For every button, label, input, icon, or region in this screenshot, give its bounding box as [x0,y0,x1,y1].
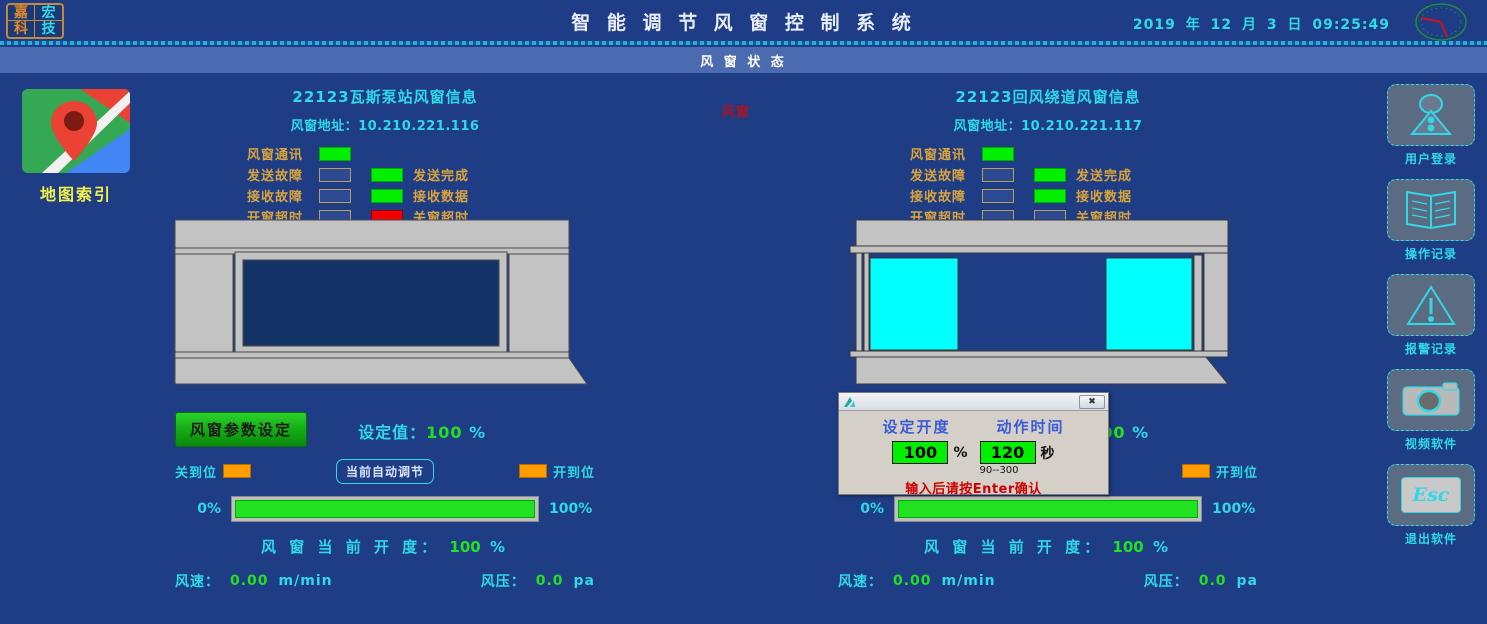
status-lamp-comm [982,147,1014,161]
dialog-hint: 输入后请按Enter确认 [839,478,1108,497]
action-time-heading: 动作时间 [997,416,1065,437]
bar-max-label: 100% [539,501,595,517]
dialog-titlebar[interactable]: ✖ [839,393,1108,411]
setpoint-label: 设定值： [358,423,426,442]
current-opening-unit: % [1153,538,1172,556]
opening-heading: 设定开度 [882,416,950,437]
book-icon [1402,188,1460,232]
esc-key-label: Esc [1413,484,1450,506]
auto-mode-badge[interactable]: 当前自动调节 [336,459,434,484]
param-row-left: 风窗参数设定 设定值：100 % [175,412,595,447]
opening-progress-fill [235,500,535,518]
wind-speed-value: 0.00 [230,573,269,589]
parameter-dialog[interactable]: ✖ 设定开度 动作时间 100 % 120 秒 90--300 输入后请按Ent… [838,392,1109,495]
current-opening-label: 风 窗 当 前 开 度： [261,538,440,556]
status-label: 接收故障 [910,186,978,205]
position-row-left: 关到位 当前自动调节 开到位 [175,461,595,481]
wind-speed-label: 风速： [175,571,220,591]
address-label: 风窗地址： [954,119,1022,134]
panel-left: 22123瓦斯泵站风窗信息 风窗地址：10.210.221.116 风窗通讯 发… [175,86,595,227]
wind-pressure-value: 0.0 [536,573,564,589]
measurements-right: 风速： 0.00 m/min 风压： 0.0 pa [838,571,1258,591]
wind-speed-value: 0.00 [893,573,932,589]
year-unit: 年 [1186,17,1201,33]
opening-input[interactable]: 100 [892,441,948,464]
operation-log-button[interactable] [1387,179,1475,241]
closed-position-lamp [223,464,251,478]
measurements-left: 风速： 0.00 m/min 风压： 0.0 pa [175,571,595,591]
progress-row-left: 0% 100% [175,496,595,522]
current-opening-value: 100 [1112,538,1143,556]
wind-window-graphic-left [173,218,591,388]
alarm-log-button[interactable] [1387,274,1475,336]
dialog-fields: 100 % 120 秒 90--300 [839,441,1108,476]
setpoint-display: 设定值：100 % [358,419,486,443]
opening-field-group: 100 % [892,441,967,464]
closed-position-label: 关到位 [175,462,217,481]
bar-max-label: 100% [1202,501,1258,517]
sidebar-item-exit-software[interactable]: Esc 退出软件 [1385,464,1477,547]
action-time-field-group: 120 秒 [980,441,1055,464]
sidebar-label-operation-log: 操作记录 [1385,245,1477,262]
action-time-input[interactable]: 120 [980,441,1036,464]
panel-right: 22123回风绕道风窗信息 风窗地址：10.210.221.117 风窗通讯 发… [838,86,1258,227]
day-value: 3 [1267,17,1278,33]
status-row: 风窗通讯 [910,143,1258,164]
status-row: 发送故障 发送完成 [247,164,595,185]
sidebar-item-video-software[interactable]: 视频软件 [1385,369,1477,452]
setpoint-unit: % [1132,423,1149,442]
wind-pressure-unit: pa [574,573,595,589]
panel-right-address: 风窗地址：10.210.221.117 [838,115,1258,134]
setpoint-value: 100 [426,423,462,442]
open-position-label: 开到位 [1216,462,1258,481]
esc-key-icon: Esc [1401,477,1461,513]
dialog-headings: 设定开度 动作时间 [839,416,1108,437]
open-position-lamp [519,464,547,478]
current-opening-unit: % [490,538,509,556]
opening-unit: % [953,445,967,461]
open-position-label: 开到位 [553,462,595,481]
clock-gauge-icon [1405,2,1477,42]
status-lamp-send-fault [319,168,351,182]
user-login-button[interactable] [1387,84,1475,146]
status-lamp-send-done [1034,168,1066,182]
status-label-secondary: 接收数据 [1076,186,1132,205]
status-lamp-recv-fault [319,189,351,203]
bar-min-label: 0% [838,501,894,517]
map-index-label: 地图索引 [22,181,130,205]
status-label: 风窗通讯 [247,144,315,163]
map-index-button[interactable]: 地图索引 [22,89,130,205]
sidebar-label-video-software: 视频软件 [1385,435,1477,452]
sidebar-label-user-login: 用户登录 [1385,150,1477,167]
current-opening-left: 风 窗 当 前 开 度： 100 % [175,536,595,557]
status-strip-label: 风 窗 状 态 [700,51,787,70]
status-row: 接收故障 接收数据 [247,185,595,206]
wind-speed-unit: m/min [279,573,333,589]
wind-pressure-value: 0.0 [1199,573,1227,589]
opening-progress-bar[interactable] [231,496,539,522]
status-lamp-send-done [371,168,403,182]
panel-left-status-rows: 风窗通讯 发送故障 发送完成 接收故障 接收数据 开窗超时 关窗超时 [175,143,595,227]
progress-row-right: 0% 100% [838,496,1258,522]
param-setting-button[interactable]: 风窗参数设定 [175,412,307,447]
address-label: 风窗地址： [291,119,359,134]
opening-progress-bar[interactable] [894,496,1202,522]
warning-triangle-icon [1404,283,1458,327]
setpoint-unit: % [469,423,486,442]
top-bar: 嘉 宏 科 技 智 能 调 节 风 窗 控 制 系 统 2019 年 12 月 … [0,0,1487,45]
address-value: 10.210.221.116 [358,119,479,134]
action-time-unit: 秒 [1041,443,1055,463]
status-lamp-recv-data [1034,189,1066,203]
bar-min-label: 0% [175,501,231,517]
status-label: 发送故障 [247,165,315,184]
camera-icon [1400,379,1462,421]
datetime-display: 2019 年 12 月 3 日 09:25:49 [1131,14,1392,34]
status-label: 发送故障 [910,165,978,184]
exit-software-button[interactable]: Esc [1387,464,1475,526]
sidebar-label-alarm-log: 报警记录 [1385,340,1477,357]
wind-speed-unit: m/min [942,573,996,589]
panel-right-title: 22123回风绕道风窗信息 [838,86,1258,107]
map-pin-icon [22,89,130,173]
panel-left-title: 22123瓦斯泵站风窗信息 [175,86,595,107]
panel-right-status-rows: 风窗通讯 发送故障 发送完成 接收故障 接收数据 开窗超时 关窗超时 [838,143,1258,227]
user-icon [1403,93,1459,137]
sidebar-item-alarm-log[interactable]: 报警记录 [1385,274,1477,357]
current-opening-value: 100 [449,538,480,556]
status-label-secondary: 发送完成 [413,165,469,184]
status-label-secondary: 接收数据 [413,186,469,205]
action-time-range: 90--300 [980,465,1019,476]
status-strip: 风 窗 状 态 [0,47,1487,73]
wind-window-red-mark: 风窗 [722,101,750,120]
address-value: 10.210.221.117 [1021,119,1142,134]
wind-window-graphic-right [848,218,1240,388]
month-value: 12 [1211,17,1232,33]
status-label: 风窗通讯 [910,144,978,163]
status-lamp-send-fault [982,168,1014,182]
video-software-button[interactable] [1387,369,1475,431]
month-unit: 月 [1242,17,1257,33]
panel-left-address: 风窗地址：10.210.221.116 [175,115,595,134]
sidebar-item-operation-log[interactable]: 操作记录 [1385,179,1477,262]
current-opening-right: 风 窗 当 前 开 度： 100 % [838,536,1258,557]
controls-left: 风窗参数设定 设定值：100 % 关到位 当前自动调节 开到位 0% 100% … [175,412,595,591]
status-label: 接收故障 [247,186,315,205]
opening-progress-fill [898,500,1198,518]
close-icon[interactable]: ✖ [1079,395,1105,409]
day-unit: 日 [1287,17,1302,33]
current-opening-label: 风 窗 当 前 开 度： [924,538,1103,556]
sidebar-item-user-login[interactable]: 用户登录 [1385,84,1477,167]
status-row: 接收故障 接收数据 [910,185,1258,206]
clock-time: 09:25:49 [1312,17,1390,33]
sidebar: 用户登录 操作记录 报警记录 [1385,84,1477,559]
status-lamp-recv-fault [982,189,1014,203]
status-row: 发送故障 发送完成 [910,164,1258,185]
wind-pressure-unit: pa [1237,573,1258,589]
action-time-column: 120 秒 90--300 [980,441,1055,476]
wind-pressure-label: 风压： [481,571,526,591]
status-row: 风窗通讯 [247,143,595,164]
dialog-body: 设定开度 动作时间 100 % 120 秒 90--300 输入后请按Enter… [839,411,1108,497]
open-position-lamp [1182,464,1210,478]
year-value: 2019 [1133,17,1176,33]
app-icon [843,396,856,409]
status-lamp-comm [319,147,351,161]
wind-speed-label: 风速： [838,571,883,591]
status-label-secondary: 发送完成 [1076,165,1132,184]
sidebar-label-exit-software: 退出软件 [1385,530,1477,547]
header-divider [0,41,1487,45]
status-lamp-recv-data [371,189,403,203]
wind-pressure-label: 风压： [1144,571,1189,591]
